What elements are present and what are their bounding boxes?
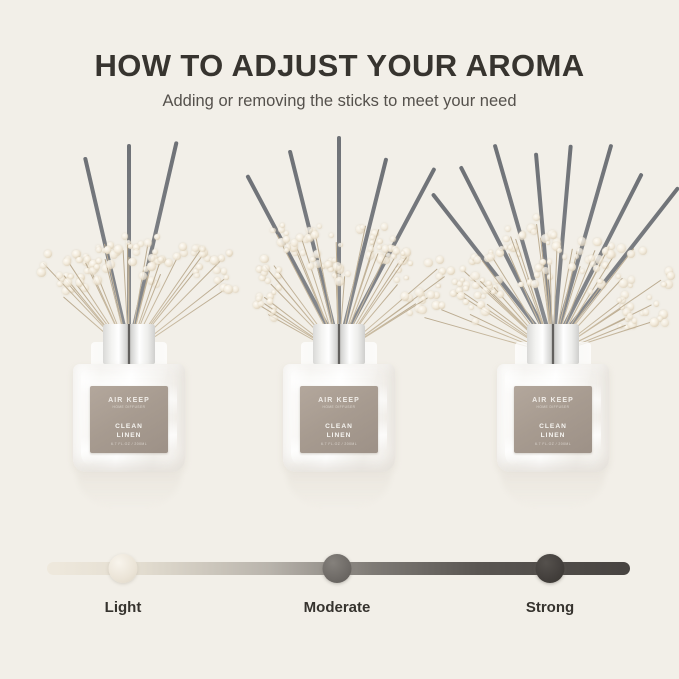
- label-scent: CLEAN LINEN: [325, 422, 353, 440]
- flower-bloom: [557, 248, 562, 253]
- flower-bloom: [487, 253, 495, 261]
- reed-arrangement: [14, 118, 244, 348]
- flower-bloom: [427, 291, 434, 298]
- diffuser-bottle: AIR KEEP HOME DIFFUSER CLEAN LINEN 6.7 F…: [70, 324, 188, 484]
- flower-bloom: [568, 263, 576, 271]
- label-scent-line2: LINEN: [541, 432, 566, 439]
- flower-bloom: [338, 243, 343, 248]
- flower-bloom: [401, 292, 410, 301]
- label-scent-line1: CLEAN: [325, 423, 353, 430]
- flower-bloom: [531, 229, 537, 235]
- flower-bloom: [503, 236, 509, 242]
- flower-bloom: [481, 307, 489, 315]
- flower-bloom: [213, 267, 220, 274]
- flower-bloom: [472, 318, 479, 325]
- label-scent: CLEAN LINEN: [539, 422, 567, 440]
- flower-bloom: [616, 274, 621, 279]
- flower-bloom: [654, 301, 660, 307]
- flower-bloom: [173, 253, 180, 260]
- flower-bloom: [128, 258, 136, 266]
- flower-bloom: [398, 260, 403, 265]
- flower-bloom: [533, 214, 540, 221]
- flower-bloom: [617, 244, 626, 253]
- flower-bloom: [518, 232, 526, 240]
- product-label: AIR KEEP HOME DIFFUSER CLEAN LINEN 6.7 F…: [300, 386, 378, 453]
- flower-bloom: [271, 309, 276, 314]
- flower-bloom: [460, 278, 465, 283]
- label-scent: CLEAN LINEN: [115, 422, 143, 440]
- flower-bloom: [200, 247, 205, 252]
- flower-bloom: [547, 259, 552, 264]
- flower-bloom: [284, 248, 289, 253]
- flower-bloom: [260, 255, 268, 263]
- flower-bloom: [283, 236, 290, 243]
- flower-bloom: [661, 319, 669, 327]
- bottle-collar: [527, 324, 579, 364]
- flower-bloom: [643, 309, 650, 316]
- flower-bloom: [390, 236, 396, 242]
- flower-bloom: [122, 233, 128, 239]
- flower-bloom: [518, 282, 523, 287]
- flower-bloom: [471, 272, 480, 281]
- slider-knob-light[interactable]: [109, 554, 138, 583]
- flower-bloom: [540, 259, 545, 264]
- label-brand-subtext: HOME DIFFUSER: [537, 405, 570, 409]
- flower-bloom: [360, 225, 365, 230]
- flower-bloom: [381, 223, 389, 231]
- flower-bloom: [317, 224, 322, 229]
- flower-bloom: [94, 264, 100, 270]
- flower-bloom: [551, 232, 557, 238]
- flower-bloom: [632, 318, 638, 324]
- flower-bloom: [44, 250, 52, 258]
- flower-bloom: [401, 251, 406, 256]
- flower-bloom: [147, 262, 156, 271]
- flower-bloom: [486, 281, 491, 286]
- flower-bloom: [577, 248, 583, 254]
- product-group-strong: AIR KEEP HOME DIFFUSER CLEAN LINEN 6.7 F…: [438, 118, 668, 518]
- flower-bloom: [639, 247, 647, 255]
- bottle-reflection: [287, 474, 391, 508]
- flower-bloom: [139, 272, 147, 280]
- flower-bloom: [63, 258, 71, 266]
- flower-bloom: [534, 272, 539, 277]
- flower-bloom: [439, 302, 445, 308]
- flower-bloom: [333, 262, 342, 271]
- flower-bloom: [394, 277, 401, 284]
- flower-bloom: [531, 280, 539, 288]
- flower-bloom: [505, 226, 511, 232]
- flower-bloom: [546, 241, 551, 246]
- product-group-moderate: AIR KEEP HOME DIFFUSER CLEAN LINEN 6.7 F…: [224, 118, 454, 518]
- reed-arrangement: [438, 118, 668, 348]
- flower-bloom: [114, 245, 123, 254]
- flower-bloom: [270, 228, 276, 234]
- flower-bloom: [311, 231, 319, 239]
- flower-bloom: [68, 274, 74, 280]
- flower-bloom: [542, 267, 548, 273]
- flower-bloom: [370, 235, 375, 240]
- label-brand-subtext: HOME DIFFUSER: [323, 405, 356, 409]
- flower-bloom: [497, 291, 504, 298]
- label-scent-line2: LINEN: [327, 432, 352, 439]
- flower-bloom: [574, 254, 579, 259]
- label-brand-subtext: HOME DIFFUSER: [113, 405, 146, 409]
- flower-bloom: [667, 272, 675, 280]
- flower-bloom: [588, 289, 593, 294]
- page-title: HOW TO ADJUST YOUR AROMA: [0, 48, 679, 84]
- flower-bloom: [463, 299, 469, 305]
- label-brand: AIR KEEP: [108, 397, 150, 404]
- flower-bloom: [393, 248, 400, 255]
- bottle-reflection: [501, 474, 605, 508]
- flower-bloom: [593, 265, 600, 272]
- label-volume: 6.7 FL.OZ / 200ML: [111, 442, 147, 446]
- intensity-slider[interactable]: LightModerateStrong: [0, 548, 679, 638]
- bottle-collar: [103, 324, 155, 364]
- slider-label-moderate: Moderate: [304, 599, 371, 616]
- flower-bloom: [597, 279, 602, 284]
- flower-bloom: [627, 250, 635, 258]
- flower-bloom: [276, 267, 282, 273]
- flower-bloom: [491, 290, 496, 295]
- flower-bloom: [93, 276, 102, 285]
- flower-bloom: [210, 256, 219, 265]
- flower-bloom: [126, 240, 131, 245]
- product-label: AIR KEEP HOME DIFFUSER CLEAN LINEN 6.7 F…: [514, 386, 592, 453]
- infographic-canvas: HOW TO ADJUST YOUR AROMA Adding or remov…: [0, 0, 679, 679]
- flower-bloom: [647, 295, 652, 300]
- product-group-light: AIR KEEP HOME DIFFUSER CLEAN LINEN 6.7 F…: [14, 118, 244, 518]
- flower-bloom: [472, 282, 480, 290]
- slider-label-strong: Strong: [526, 599, 574, 616]
- flower-bloom: [345, 271, 351, 277]
- flower-bloom: [154, 234, 161, 241]
- flower-bloom: [628, 276, 636, 284]
- flower-bloom: [481, 294, 486, 299]
- flower-bloom: [368, 246, 374, 252]
- flower-bloom: [602, 248, 608, 254]
- flower-bloom: [408, 261, 413, 266]
- flower-bloom: [329, 233, 334, 238]
- flower-bloom: [194, 273, 200, 279]
- slider-knob-moderate[interactable]: [323, 554, 352, 583]
- label-brand: AIR KEEP: [532, 397, 574, 404]
- flower-bloom: [650, 318, 659, 327]
- flower-bloom: [508, 245, 513, 250]
- bottle-collar: [313, 324, 365, 364]
- label-volume: 6.7 FL.OZ / 200ML: [535, 442, 571, 446]
- diffuser-bottle: AIR KEEP HOME DIFFUSER CLEAN LINEN 6.7 F…: [494, 324, 612, 484]
- flower-bloom: [562, 254, 568, 260]
- flower-bloom: [291, 239, 299, 247]
- flower-bloom: [469, 305, 474, 310]
- product-label: AIR KEEP HOME DIFFUSER CLEAN LINEN 6.7 F…: [90, 386, 168, 453]
- label-scent-line1: CLEAN: [115, 423, 143, 430]
- page-subtitle: Adding or removing the sticks to meet yo…: [0, 92, 679, 111]
- flower-bloom: [377, 239, 383, 245]
- flower-bloom: [57, 281, 64, 288]
- flower-bloom: [474, 256, 482, 264]
- flower-bloom: [619, 279, 628, 288]
- slider-label-light: Light: [105, 599, 142, 616]
- flower-bloom: [627, 313, 634, 320]
- flower-bloom: [386, 253, 391, 258]
- flower-bloom: [106, 260, 114, 268]
- flower-bloom: [404, 276, 409, 281]
- flower-bloom: [196, 264, 203, 271]
- flower-bloom: [272, 290, 277, 295]
- label-volume: 6.7 FL.OZ / 200ML: [321, 442, 357, 446]
- flower-bloom: [407, 310, 413, 316]
- flower-bloom: [267, 298, 273, 304]
- flower-bloom: [262, 265, 270, 273]
- flower-bloom: [258, 301, 264, 307]
- flower-bloom: [192, 245, 199, 252]
- flower-bloom: [40, 262, 47, 269]
- flower-bloom: [418, 306, 426, 314]
- flower-bloom: [307, 263, 314, 270]
- flower-bloom: [661, 282, 666, 287]
- flower-bloom: [335, 277, 343, 285]
- flower-bloom: [37, 268, 46, 277]
- flower-bloom: [76, 257, 82, 263]
- flower-bloom: [138, 241, 144, 247]
- label-brand: AIR KEEP: [318, 397, 360, 404]
- bottle-reflection: [77, 474, 181, 508]
- flower-bloom: [96, 258, 102, 264]
- flower-bloom: [133, 249, 140, 256]
- label-scent-line2: LINEN: [117, 432, 142, 439]
- flower-bloom: [578, 237, 586, 245]
- flower-bloom: [96, 247, 102, 253]
- flower-bloom: [593, 238, 602, 247]
- flower-bloom: [424, 259, 433, 268]
- flower-bloom: [463, 286, 469, 292]
- diffuser-bottle: AIR KEEP HOME DIFFUSER CLEAN LINEN 6.7 F…: [280, 324, 398, 484]
- flower-bloom: [144, 239, 152, 247]
- slider-knob-strong[interactable]: [536, 554, 565, 583]
- flower-bloom: [179, 243, 186, 250]
- label-scent-line1: CLEAN: [539, 423, 567, 430]
